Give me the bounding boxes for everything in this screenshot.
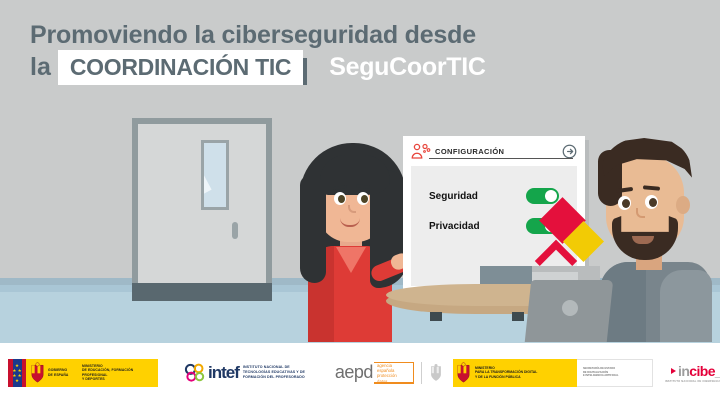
gobierno-ministry: MINISTERIO DE EDUCACIÓN, FORMACIÓN PROFE… — [82, 364, 154, 381]
table-leg — [430, 312, 442, 321]
eu-stars: ★★ ★★ ★★ — [12, 363, 21, 383]
title-line-2: la COORDINACIÓN TIC SeguCoorTIC — [30, 53, 590, 82]
gobierno-flag-strip: ★★ ★★ ★★ — [8, 359, 26, 387]
incibe-word-underscore: _ — [715, 363, 720, 379]
logo-aepd: aepd agencia española protección datos — [335, 362, 443, 384]
aepd-wordmark: aepd — [335, 362, 373, 383]
door-kickplate — [132, 283, 272, 301]
title-block: Promoviendo la ciberseguridad desde la C… — [30, 22, 590, 82]
logout-icon[interactable] — [562, 144, 577, 159]
title-boxed-text: COORDINACIÓN TIC — [58, 50, 303, 85]
slide-canvas: CONFIGURACIÓN Seguridad Privacidad — [0, 0, 720, 402]
title-highlight-box: COORDINACIÓN TIC — [58, 54, 303, 81]
mtd-text: MINISTERIO PARA LA TRANSFORMACIÓN DIGITA… — [475, 366, 567, 379]
mtd-yellow-block: MINISTERIO PARA LA TRANSFORMACIÓN DIGITA… — [453, 359, 577, 387]
logo-divider — [421, 362, 422, 384]
aepd-subtitle: agencia española protección datos — [377, 363, 397, 384]
incibe-subtitle: INSTITUTO NACIONAL DE CIBERSEGURIDAD — [665, 380, 720, 383]
aepd-subtitle-bracket: agencia española protección datos — [374, 362, 414, 384]
spain-coat-of-arms — [26, 359, 48, 387]
door-glass — [204, 143, 226, 207]
mtd-secretariat-block: SECRETARÍA DE ESTADO DE DIGITALIZACIÓN E… — [577, 359, 653, 387]
toggle-seguridad[interactable] — [526, 188, 559, 204]
woman-hair-fringe — [320, 155, 390, 195]
laptop-logo — [562, 300, 578, 316]
incibe-arrow-icon — [671, 368, 676, 374]
man-ear — [676, 196, 690, 214]
door-handle-icon — [232, 222, 238, 239]
title-line-1: Promoviendo la ciberseguridad desde — [30, 22, 590, 48]
config-panel-header: CONFIGURACIÓN — [403, 136, 585, 166]
man-pupil-left — [622, 199, 630, 208]
config-header-divider — [429, 158, 573, 159]
logo-intef: intef INSTITUTO NACIONAL DE TECNOLOGÍAS … — [184, 363, 311, 383]
logo-gobierno-de-espana: ★★ ★★ ★★ GOBIERNO DE ESPAÑA MINISTERIO D… — [8, 359, 158, 387]
spain-coat-of-arms-grey — [429, 363, 443, 382]
footer-logo-bar: ★★ ★★ ★★ GOBIERNO DE ESPAÑA MINISTERIO D… — [0, 343, 720, 402]
gobierno-text: GOBIERNO DE ESPAÑA MINISTERIO DE EDUCACI… — [48, 359, 154, 387]
mtd-secretariat-text: SECRETARÍA DE ESTADO DE DIGITALIZACIÓN E… — [583, 367, 619, 378]
config-panel-title: CONFIGURACIÓN — [435, 147, 504, 156]
title-prefix: la — [30, 53, 51, 82]
setting-label-seguridad: Seguridad — [429, 191, 478, 202]
intef-wordmark: intef — [208, 363, 239, 383]
woman-pupil-right — [361, 195, 368, 203]
setting-label-privacidad: Privacidad — [429, 221, 480, 232]
user-gear-icon — [411, 143, 431, 159]
table-leg — [512, 312, 524, 321]
woman-pupil-left — [338, 195, 345, 203]
intef-mark-icon — [184, 363, 206, 383]
spain-coat-of-arms — [453, 362, 475, 383]
man-arm — [660, 270, 712, 342]
toggle-knob — [545, 190, 557, 202]
setting-row-seguridad[interactable]: Seguridad — [429, 188, 559, 204]
incibe-wordmark: in cibe _ — [671, 363, 720, 379]
bracket-right — [413, 362, 414, 384]
intef-subtitle: INSTITUTO NACIONAL DE TECNOLOGÍAS EDUCAT… — [243, 365, 311, 380]
brand-name: SeguCoorTIC — [329, 53, 485, 82]
incibe-word-cibe: cibe — [689, 363, 715, 379]
logo-incibe: in cibe _ INSTITUTO NACIONAL DE CIBERSEG… — [665, 363, 720, 383]
gobierno-name: GOBIERNO DE ESPAÑA — [48, 368, 82, 377]
man-nose — [636, 208, 645, 218]
incibe-word-in: in — [678, 363, 689, 379]
man-pupil-right — [649, 198, 657, 207]
logo-ministerio-transformacion-digital: MINISTERIO PARA LA TRANSFORMACIÓN DIGITA… — [453, 359, 653, 387]
